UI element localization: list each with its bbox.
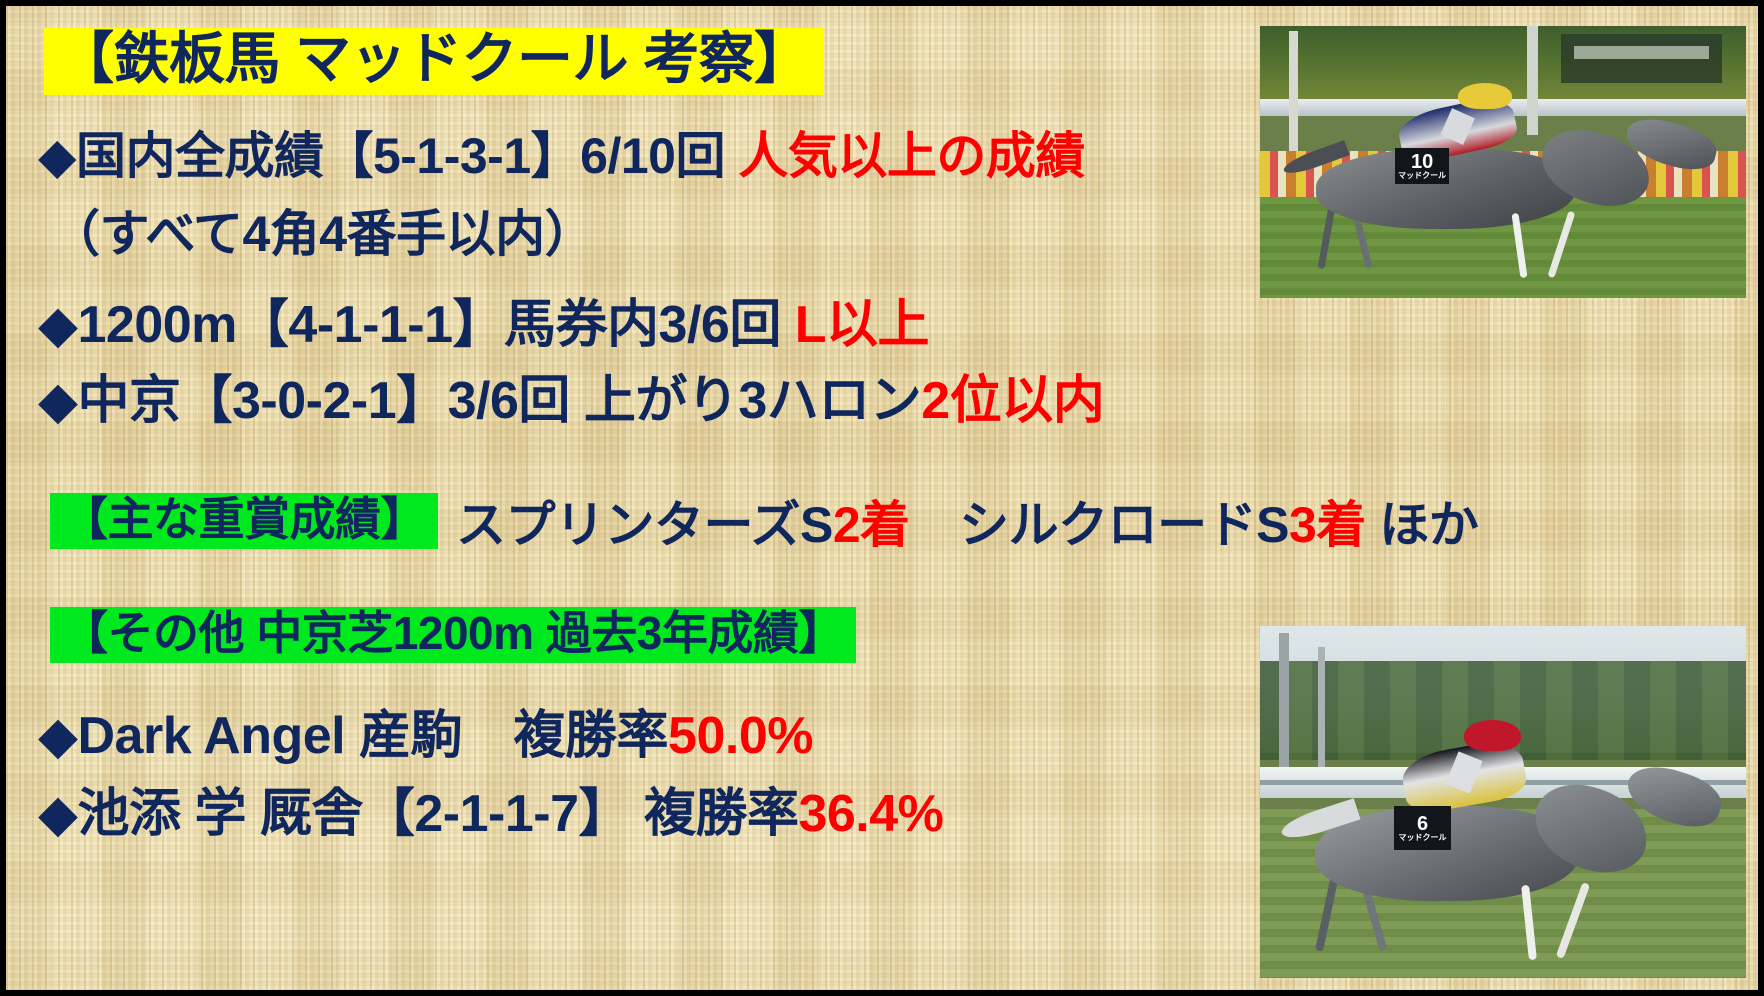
grade-results-row: 【主な重賞成績】スプリンターズS2着 シルクロードS3着 ほか — [50, 485, 1478, 557]
photo-top-post-left — [1289, 31, 1298, 156]
photo-bottom-saddle-number: 6 — [1417, 814, 1428, 834]
horse-race-photo-top: 10 マッドクール — [1260, 26, 1746, 298]
grade-results-detail: スプリンターズS2着 シルクロードS3着 ほか — [456, 497, 1478, 553]
photo-top-horse: 10 マッドクール — [1299, 118, 1717, 281]
photo-top-signboard — [1561, 34, 1721, 83]
grade-race-2-name: シルクロードS — [959, 497, 1289, 553]
horse-race-photo-bottom: 6 マッドクール — [1260, 626, 1746, 978]
stat-line-trainer: ◆池添 学 厩舎【2-1-1-7】 複勝率36.4% — [38, 771, 943, 846]
stat-line-domestic-record: ◆国内全成績【5-1-3-1】6/10回 人気以上の成績 — [38, 116, 1085, 188]
page-title: 【鉄板馬 マッドクール 考察】 — [44, 28, 824, 95]
grade-results-suffix: ほか — [1366, 497, 1478, 553]
photo-top-horse-name: マッドクール — [1398, 172, 1446, 180]
trainer-place-rate: 36.4% — [798, 785, 943, 843]
sire-text: ◆Dark Angel 産駒 複勝率 — [38, 707, 668, 765]
photo-bottom-horse: 6 マッドクール — [1289, 767, 1726, 964]
grade-race-2-finish: 3着 — [1289, 497, 1366, 553]
stat-line-corner-position: （すべて4角4番手以内） — [50, 194, 594, 266]
distance-record-highlight: L以上 — [795, 296, 929, 354]
distance-record-text: ◆1200m【4-1-1-1】馬券内3/6回 — [38, 296, 795, 354]
corner-position-text: （すべて4角4番手以内） — [50, 206, 594, 262]
photo-top-number-cloth: 10 マッドクール — [1395, 148, 1449, 184]
domestic-record-text: ◆国内全成績【5-1-3-1】6/10回 — [38, 128, 738, 184]
grade-race-1-name: スプリンターズS — [456, 497, 833, 553]
photo-bottom-tower-left — [1279, 633, 1289, 781]
chukyo-record-text: ◆中京【3-0-2-1】3/6回 上がり3ハロン — [38, 372, 921, 430]
photo-bottom-tower-right — [1318, 647, 1325, 774]
photo-bottom-horse-name: マッドクール — [1399, 834, 1447, 842]
photo-top-saddle-number: 10 — [1411, 152, 1433, 172]
grade-race-1-finish: 2着 — [833, 497, 910, 553]
chukyo-record-highlight: 2位以内 — [921, 372, 1104, 430]
grade-results-gap — [910, 497, 960, 553]
stat-line-sire: ◆Dark Angel 産駒 複勝率50.0% — [38, 693, 813, 768]
other-stats-row: 【その他 中京芝1200m 過去3年成績】 — [50, 606, 856, 663]
slide-canvas: 【鉄板馬 マッドクール 考察】 ◆国内全成績【5-1-3-1】6/10回 人気以… — [0, 0, 1764, 996]
photo-bottom-number-cloth: 6 マッドクール — [1394, 806, 1451, 849]
slide-title-row: 【鉄板馬 マッドクール 考察】 — [44, 26, 824, 95]
trainer-text: ◆池添 学 厩舎【2-1-1-7】 複勝率 — [38, 785, 798, 843]
sire-place-rate: 50.0% — [668, 707, 813, 765]
stat-line-chukyo-record: ◆中京【3-0-2-1】3/6回 上がり3ハロン2位以内 — [38, 358, 1104, 433]
stat-line-1200m-record: ◆1200m【4-1-1-1】馬券内3/6回 L以上 — [38, 282, 929, 357]
domestic-record-highlight: 人気以上の成績 — [738, 128, 1085, 184]
grade-results-heading: 【主な重賞成績】 — [50, 493, 438, 549]
other-stats-heading: 【その他 中京芝1200m 過去3年成績】 — [50, 607, 856, 663]
